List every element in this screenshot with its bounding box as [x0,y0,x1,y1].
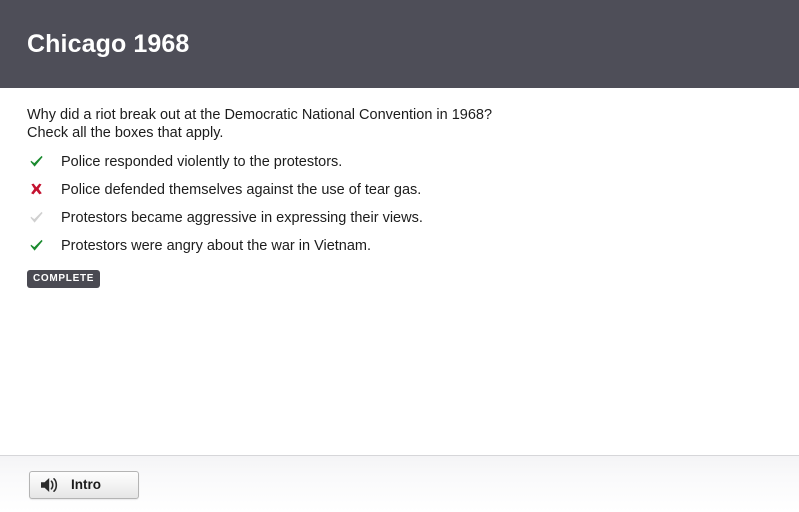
question-prompt-line-2: Check all the boxes that apply. [27,124,727,142]
status-badge: COMPLETE [27,270,100,288]
page-title: Chicago 1968 [27,30,189,58]
footer-bar: Intro [0,455,799,512]
answer-option-1[interactable]: Police responded violently to the protes… [27,148,747,176]
check-icon [27,239,53,253]
answer-option-4-label: Protestors were angry about the war in V… [53,237,371,255]
question-prompt-line-1: Why did a riot break out at the Democrat… [27,106,727,124]
answer-option-3[interactable]: Protestors became aggressive in expressi… [27,204,747,232]
question-block: Why did a riot break out at the Democrat… [27,106,727,142]
speaker-icon [40,476,62,494]
answer-option-2[interactable]: Police defended themselves against the u… [27,176,747,204]
answer-option-1-label: Police responded violently to the protes… [53,153,342,171]
intro-audio-button-label: Intro [62,477,101,493]
cross-icon [27,183,53,197]
header-bar: Chicago 1968 [0,0,799,88]
content-area: Why did a riot break out at the Democrat… [0,88,799,455]
check-icon [27,211,53,225]
check-icon [27,155,53,169]
answer-option-3-label: Protestors became aggressive in expressi… [53,209,423,227]
answers-list: Police responded violently to the protes… [27,148,747,260]
answer-option-4[interactable]: Protestors were angry about the war in V… [27,232,747,260]
answer-option-2-label: Police defended themselves against the u… [53,181,421,199]
intro-audio-button[interactable]: Intro [29,471,139,499]
